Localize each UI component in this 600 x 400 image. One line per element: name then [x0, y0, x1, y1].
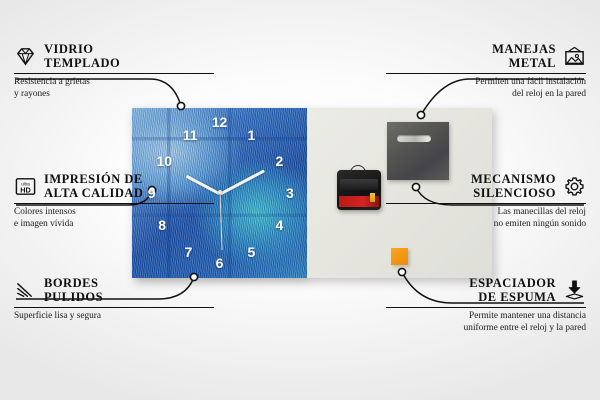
feature-desc-line1: Permiten una fácil instalación — [386, 77, 586, 89]
feature-divider — [14, 307, 214, 308]
svg-text:HD: HD — [20, 185, 31, 194]
clock-numeral-5: 5 — [248, 245, 256, 259]
clock-center-pin — [218, 190, 222, 194]
feature-desc-line1: Permite mantener una distancia — [386, 311, 586, 323]
feature-divider — [386, 73, 586, 74]
quartz-movement — [337, 170, 381, 210]
clock-numeral-1: 1 — [248, 128, 256, 142]
feature-manejas-metal: MANEJAS METAL Permiten una fácil instala… — [386, 42, 586, 101]
feature-divider — [14, 73, 214, 74]
movement-hanging-loop — [350, 165, 366, 174]
feature-title-line1: IMPRESIÓN DE — [44, 172, 143, 186]
clock-numeral-7: 7 — [185, 245, 193, 259]
movement-red-label — [339, 196, 379, 207]
clock-numeral-6: 6 — [216, 256, 224, 270]
clock-numeral-11: 11 — [183, 128, 198, 142]
clock-numeral-8: 8 — [158, 218, 166, 232]
feature-divider — [386, 307, 586, 308]
clock-numeral-2: 2 — [276, 154, 284, 168]
feature-title-line1: ESPACIADOR — [469, 276, 556, 290]
feature-title-line2: PULIDOS — [44, 290, 103, 304]
hanger-slot — [397, 135, 431, 142]
feature-divider — [386, 203, 586, 204]
clock-numeral-9: 9 — [148, 186, 156, 200]
feature-title-line2: TEMPLADO — [44, 56, 120, 70]
ultra-hd-icon: ultra HD — [14, 175, 37, 198]
feature-desc-line1: Las manecillas del reloj — [386, 207, 586, 219]
feature-desc-line2: del reloj en la pared — [386, 89, 586, 101]
clock-numeral-4: 4 — [276, 218, 284, 232]
feature-bordes-pulidos: BORDES PULIDOS Superficie lisa y segura — [14, 276, 214, 323]
feature-title-line1: MANEJAS — [492, 42, 556, 56]
movement-body-seam — [340, 179, 378, 190]
feature-impresion-alta-calidad: ultra HD IMPRESIÓN DE ALTA CALIDAD Color… — [14, 172, 214, 231]
feature-desc-line2: e imagen vívida — [14, 219, 214, 231]
feature-title-line1: BORDES — [44, 276, 103, 290]
picture-hanger-icon — [563, 45, 586, 68]
clock-numeral-3: 3 — [286, 186, 294, 200]
clock-numeral-12: 12 — [212, 115, 228, 129]
feature-title-line2: METAL — [492, 56, 556, 70]
feature-desc-line1: Colores intensos — [14, 207, 214, 219]
clock-minute-hand — [219, 169, 264, 195]
feature-title-line2: SILENCIOSO — [471, 186, 556, 200]
gear-icon — [563, 175, 586, 198]
feature-desc-line1: Resistencia a grietas — [14, 77, 214, 89]
feature-title-line2: ALTA CALIDAD — [44, 186, 143, 200]
foam-spacer-square — [391, 248, 408, 265]
clock-numeral-10: 10 — [157, 154, 173, 168]
feature-espaciador-de-espuma: ESPACIADOR DE ESPUMA Permite mantener un… — [386, 276, 586, 335]
diamond-icon — [14, 45, 37, 68]
feature-desc-line2: uniforme entre el reloj y la pared — [386, 323, 586, 335]
feature-divider — [14, 203, 214, 204]
feature-desc-line1: Superficie lisa y segura — [14, 311, 214, 323]
feature-title-line1: MECANISMO — [471, 172, 556, 186]
feature-vidrio-templado: VIDRIO TEMPLADO Resistencia a grietas y … — [14, 42, 214, 101]
feature-mecanismo-silencioso: MECANISMO SILENCIOSO Las manecillas del … — [386, 172, 586, 231]
foam-spacer-arrow-icon — [563, 279, 586, 302]
feature-title-line2: DE ESPUMA — [469, 290, 556, 304]
feature-title-line1: VIDRIO — [44, 42, 120, 56]
polished-edges-icon — [14, 279, 37, 302]
clock-second-hand — [219, 194, 222, 250]
feature-desc-line2: y rayones — [14, 89, 214, 101]
infographic-canvas: 12 1 2 3 4 5 6 7 8 9 10 11 — [0, 0, 600, 400]
feature-desc-line2: no emiten ningún sonido — [386, 219, 586, 231]
